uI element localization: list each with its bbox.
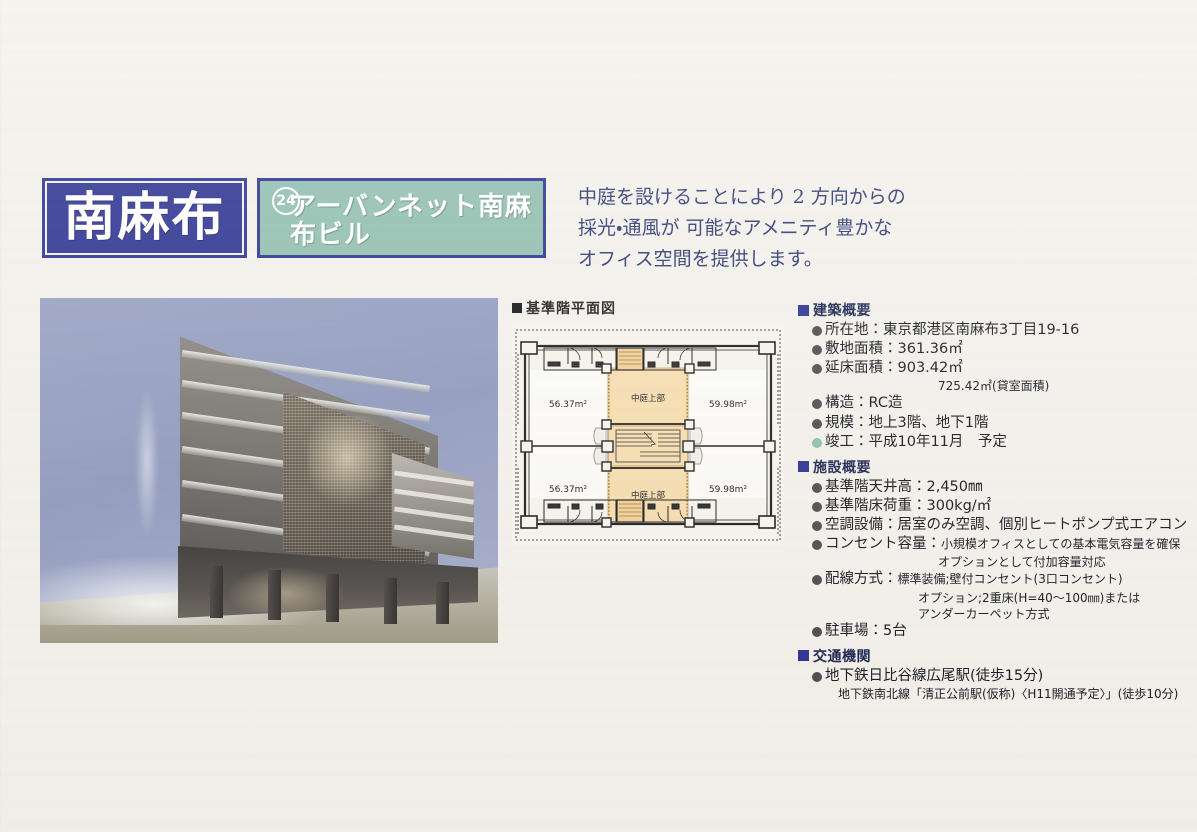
lead-copy-line-3: オフィス空間を提供します。	[578, 244, 978, 275]
floor-plan-drawing: 56.37m² 59.98m² 56.37m² 59.98m² 中庭上部 中庭上…	[512, 324, 784, 546]
core-staircase	[616, 430, 680, 462]
spec-item: 規模：地上3階、地下1階	[798, 414, 1190, 433]
lead-copy-line-1: 中庭を設けることにより 2 方向からの	[578, 182, 978, 213]
building-exterior-photo	[40, 298, 498, 643]
bullet-dark-icon	[812, 326, 822, 336]
square-bullet-icon	[798, 650, 809, 661]
spec-item: 基準階床荷重：300kg/㎡	[798, 497, 1190, 516]
bullet-dark-icon	[812, 419, 822, 429]
photo-piloti-column	[210, 566, 223, 618]
area-label-bottom-right: 59.98m²	[709, 485, 748, 495]
stair-shaft-top	[617, 348, 643, 370]
spec-item-text: 延床面積：903.42㎡	[825, 359, 1190, 378]
brochure-page: 南麻布 24 アーバンネット南麻布ビル 中庭を設けることにより 2 方向からの …	[0, 0, 1197, 832]
spec-sub-line: オプションとして付加容量対応	[798, 554, 1190, 570]
spec-item: コンセント容量：小規模オフィスとしての基本電気容量を確保	[798, 535, 1190, 554]
spec-item: 駐車場：5台	[798, 622, 1190, 641]
lead-copy: 中庭を設けることにより 2 方向からの 採光・通風が 可能なアメニティ豊かな オ…	[578, 182, 978, 274]
area-title-text: 南麻布	[63, 192, 225, 244]
spec-group-heading-text: 施設概要	[813, 457, 871, 477]
photo-piloti-column	[268, 570, 281, 620]
spec-item: 所在地：東京都港区南麻布3丁目19-16	[798, 321, 1190, 340]
spec-group-heading: 施設概要	[798, 457, 1190, 477]
bullet-dark-icon	[812, 399, 822, 409]
bullet-dark-icon	[812, 345, 822, 355]
square-bullet-icon	[798, 461, 809, 472]
spec-item: 基準階天井高：2,450㎜	[798, 478, 1190, 497]
bullet-teal-icon	[812, 438, 822, 448]
spec-group-heading: 建築概要	[798, 300, 1190, 320]
floor-plan-title-text: 基準階平面図	[526, 301, 616, 317]
lead-copy-line-2: 採光・通風が 可能なアメニティ豊かな	[578, 213, 978, 244]
spec-group: 建築概要所在地：東京都港区南麻布3丁目19-16敷地面積：361.36㎡延床面積…	[798, 300, 1190, 452]
spec-group-heading-text: 交通機関	[813, 646, 871, 666]
bullet-dark-icon	[812, 627, 822, 637]
building-number-badge: 24	[272, 187, 300, 215]
specifications-column: 建築概要所在地：東京都港区南麻布3丁目19-16敷地面積：361.36㎡延床面積…	[798, 300, 1190, 707]
spec-item-text: 基準階床荷重：300kg/㎡	[825, 497, 1190, 516]
area-title-block: 南麻布	[42, 178, 247, 258]
spec-item-text: 地下鉄日比谷線広尾駅(徒歩15分)	[825, 667, 1190, 686]
courtyard-label-bottom: 中庭上部	[631, 490, 666, 501]
spec-item-text: コンセント容量：小規模オフィスとしての基本電気容量を確保	[825, 535, 1190, 554]
stair-shaft-bottom	[617, 500, 643, 522]
bullet-dark-icon	[812, 540, 822, 550]
photo-piloti-column	[436, 582, 449, 624]
floor-plan-section: 基準階平面図	[512, 298, 784, 546]
title-row: 南麻布 24 アーバンネット南麻布ビル	[42, 178, 546, 258]
spec-item: 地下鉄日比谷線広尾駅(徒歩15分)	[798, 667, 1190, 686]
spec-item-text: 空調設備：居室のみ空調、個別ヒートポンプ式エアコン	[825, 516, 1190, 535]
photo-piloti-column	[384, 578, 397, 624]
spec-item-text: 基準階天井高：2,450㎜	[825, 478, 1190, 497]
spec-item: 竣工：平成10年11月 予定	[798, 433, 1190, 452]
area-label-top-right: 59.98m²	[709, 400, 748, 410]
bullet-dark-icon	[812, 672, 822, 682]
bullet-dark-icon	[812, 483, 822, 493]
spec-group: 施設概要基準階天井高：2,450㎜基準階床荷重：300kg/㎡空調設備：居室のみ…	[798, 457, 1190, 641]
courtyard-label-top: 中庭上部	[631, 393, 666, 404]
spec-item-text: 構造：RC造	[825, 394, 1190, 413]
spec-item: 延床面積：903.42㎡	[798, 359, 1190, 378]
photo-piloti-column	[326, 574, 339, 622]
spec-item: 空調設備：居室のみ空調、個別ヒートポンプ式エアコン	[798, 516, 1190, 535]
spec-item: 配線方式：標準装備;壁付コンセント(3口コンセント)	[798, 570, 1190, 589]
spec-item-detail: 標準装備;壁付コンセント(3口コンセント)	[898, 572, 1123, 586]
spec-item-text: 所在地：東京都港区南麻布3丁目19-16	[825, 321, 1190, 340]
spec-sub-line: オプション;2重床(H=40〜100㎜)または	[798, 590, 1190, 606]
spec-sub-line: 地下鉄南北線「清正公前駅(仮称)〈H11開通予定〉」(徒歩10分)	[798, 686, 1190, 702]
spec-item-text: 配線方式：標準装備;壁付コンセント(3口コンセント)	[825, 570, 1190, 589]
building-name-text: アーバンネット南麻布ビル	[290, 194, 543, 249]
spec-group: 交通機関地下鉄日比谷線広尾駅(徒歩15分)地下鉄南北線「清正公前駅(仮称)〈H1…	[798, 646, 1190, 702]
spec-item: 敷地面積：361.36㎡	[798, 340, 1190, 359]
square-bullet-icon	[798, 305, 809, 316]
floor-plan-title: 基準階平面図	[512, 298, 784, 318]
spec-group-heading-text: 建築概要	[813, 300, 871, 320]
square-bullet-icon	[512, 303, 522, 313]
area-label-top-left: 56.37m²	[549, 400, 588, 410]
bullet-dark-icon	[812, 575, 822, 585]
bullet-dark-icon	[812, 364, 822, 374]
spec-item-text: 規模：地上3階、地下1階	[825, 414, 1190, 433]
spec-item-detail: 小規模オフィスとしての基本電気容量を確保	[941, 537, 1180, 551]
area-label-bottom-left: 56.37m²	[549, 485, 588, 495]
photo-blade-sheen	[136, 388, 158, 538]
floor-plan-canvas: 56.37m² 59.98m² 56.37m² 59.98m² 中庭上部 中庭上…	[512, 324, 784, 546]
bullet-dark-icon	[812, 521, 822, 531]
spec-item-text: 駐車場：5台	[825, 622, 1190, 641]
spec-sub-line: アンダーカーペット方式	[798, 606, 1190, 622]
spec-item: 構造：RC造	[798, 394, 1190, 413]
spec-group-heading: 交通機関	[798, 646, 1190, 666]
bullet-dark-icon	[812, 502, 822, 512]
building-title-block: 24 アーバンネット南麻布ビル	[257, 178, 546, 258]
spec-item-text: 竣工：平成10年11月 予定	[825, 433, 1190, 452]
spec-sub-line: 725.42㎡(貸室面積)	[798, 378, 1190, 394]
spec-item-text: 敷地面積：361.36㎡	[825, 340, 1190, 359]
photo-screen-glow	[308, 416, 394, 508]
